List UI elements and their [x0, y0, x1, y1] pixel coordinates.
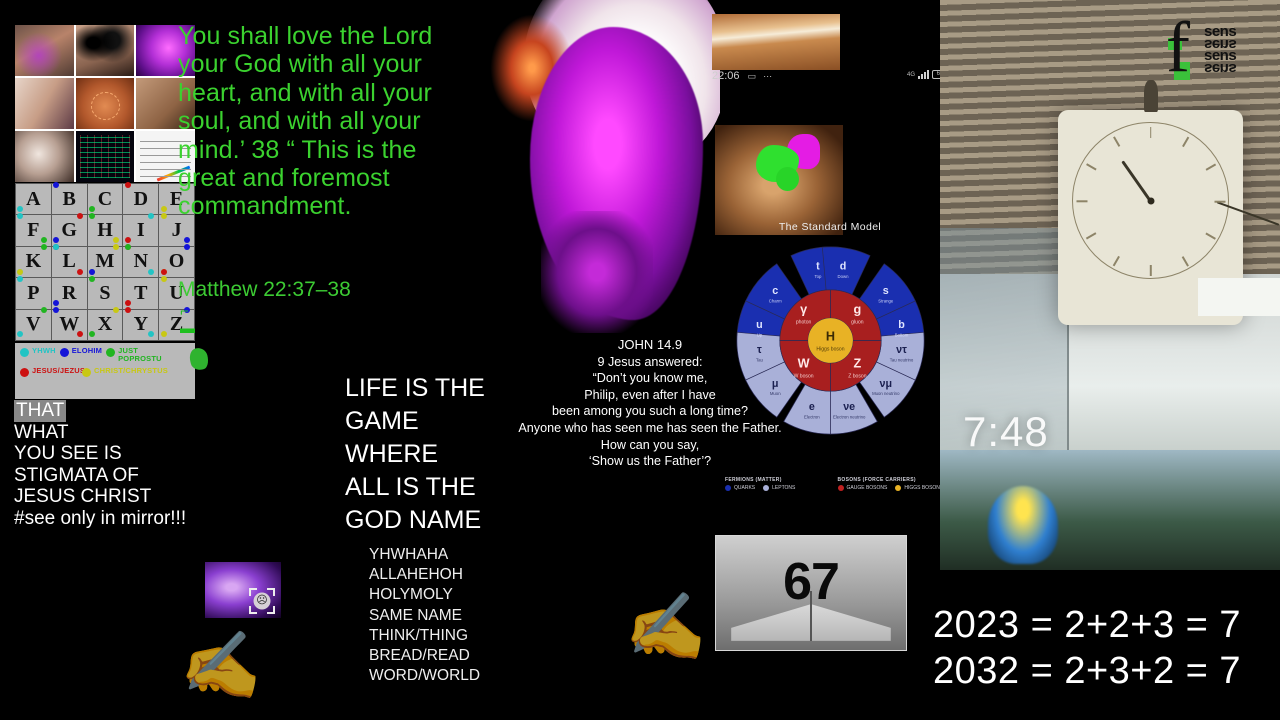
more-dots-icon: ⋯: [763, 71, 772, 81]
fermions-legend-title: FERMIONS (MATTER): [725, 477, 828, 483]
letter-label: O: [169, 250, 185, 273]
legend-label: YHWH: [32, 347, 56, 355]
sad-face-icon: ☹: [254, 593, 271, 610]
scripture-text: You shall love the Lord your God with al…: [178, 22, 478, 221]
marker-dot: [161, 213, 167, 219]
legend-label: CHRIST/CHRYSTUS: [94, 367, 140, 375]
particle-name: Down: [838, 274, 850, 279]
marker-dot: [113, 237, 119, 243]
marker-dot: [53, 244, 59, 250]
person-figure: [988, 486, 1058, 564]
marker-dot: [89, 276, 95, 282]
god-name-item: SAME NAME: [369, 606, 599, 626]
skin-photo-thumbnail: [712, 14, 840, 70]
photo-collage-grid: [15, 25, 195, 182]
clock-hour-hand: [1121, 160, 1152, 202]
letter-label: F: [27, 219, 39, 242]
clock-tick: [1214, 201, 1225, 203]
marker-dot: [53, 300, 59, 306]
face-box-corner-br: [267, 606, 275, 614]
clock-tick: [1086, 233, 1096, 240]
letter-label: B: [63, 188, 76, 211]
letter-cell-I: I: [123, 215, 158, 245]
sm-legend-chip: QUARKS: [725, 485, 755, 491]
particle-symbol: γ: [800, 303, 807, 317]
letter-cell-P: P: [16, 278, 51, 308]
letter-label: Y: [134, 313, 148, 336]
logo-sens-stack: senssenssenssens: [1204, 26, 1274, 74]
phone-status-time: 22:06 ▭ ⋯: [712, 70, 772, 82]
particle-name: W boson: [794, 373, 814, 379]
marker-dot: [53, 307, 59, 313]
stigmata-text-block: THATWHATYOU SEE ISSTIGMATA OFJESUS CHRIS…: [14, 400, 274, 529]
logo-sens-word: sens: [1204, 38, 1274, 50]
collage-photo-2: [76, 25, 135, 76]
network-type-label: 4G: [907, 72, 915, 78]
marker-dot: [161, 331, 167, 337]
marker-dot: [89, 206, 95, 212]
letter-label: S: [99, 282, 110, 305]
collage-photo-8: [76, 131, 135, 182]
letter-label: P: [27, 282, 39, 305]
marker-dot: [161, 206, 167, 212]
god-name-item: THINK/THING: [369, 626, 599, 646]
letter-cell-N: N: [123, 247, 158, 277]
god-name-item: WORD/WORLD: [369, 666, 599, 686]
marker-dot: [17, 276, 23, 282]
particle-symbol: Z: [854, 356, 862, 370]
clock-tick: [1113, 256, 1120, 266]
clock-tick: [1182, 137, 1189, 147]
legend-color-dot: [60, 348, 69, 357]
sm-legend-swatch: [763, 485, 769, 491]
letter-label: D: [134, 188, 148, 211]
sm-legend-label: QUARKS: [734, 485, 755, 491]
john-heading: JOHN 14.9: [505, 337, 795, 354]
life-line: ALL IS THE: [345, 471, 595, 504]
stigmata-line: #see only in mirror!!!: [14, 508, 274, 530]
marker-dot: [17, 269, 23, 275]
signal-bars-icon: [918, 70, 929, 79]
bosons-legend-chips: GAUGE BOSONSHIGGS BOSON: [838, 485, 941, 491]
letter-cell-A: A: [16, 184, 51, 214]
marker-dot: [17, 206, 23, 212]
fsens-logo: f senssenssenssens: [1160, 10, 1272, 90]
sketch-figure-center: ✍: [622, 584, 712, 669]
bosons-legend-group: BOSONS (FORCE CARRIERS) GAUGE BOSONSHIGG…: [838, 477, 941, 491]
particle-name: Z boson: [848, 373, 866, 379]
particle-name: Muon neutrino: [872, 391, 900, 396]
marker-dot: [148, 213, 154, 219]
letter-cell-R: R: [52, 278, 87, 308]
marker-dot: [161, 276, 167, 282]
marker-dot: [89, 331, 95, 337]
logo-sens-word: sens: [1204, 62, 1274, 74]
particle-name: photon: [796, 319, 812, 325]
letter-cell-W: W: [52, 310, 87, 340]
letter-cell-O: O: [159, 247, 194, 277]
stigmata-line: THAT: [14, 400, 274, 422]
particle-name: Electron neutrino: [833, 415, 866, 420]
letter-label: R: [62, 282, 76, 305]
book-number-overlay: 67: [716, 552, 906, 612]
letter-cell-D: D: [123, 184, 158, 214]
collage-photo-7: [15, 131, 74, 182]
clock-tick: [1205, 233, 1215, 240]
particle-symbol: s: [883, 285, 889, 297]
sm-legend-label: HIGGS BOSON: [904, 485, 940, 491]
letter-cell-F: F: [16, 215, 51, 245]
marker-dot: [125, 307, 131, 313]
sm-legend-chip: HIGGS BOSON: [895, 485, 940, 491]
marker-dot: [161, 269, 167, 275]
god-name-list: YHWHAHAALLAHEHOHHOLYMOLYSAME NAMETHINK/T…: [369, 545, 599, 686]
legend-item: CHRIST/CHRYSTUS: [82, 367, 140, 377]
purple-thumbnail: ☹: [205, 562, 281, 618]
clock-tick: [1205, 164, 1215, 171]
left-collage-panel: [15, 25, 195, 182]
marker-dot: [17, 331, 23, 337]
particle-symbol: e: [809, 401, 815, 413]
letter-label: M: [96, 250, 115, 273]
marker-dot: [17, 213, 23, 219]
green-cursor-glyph: ⌐ ▬: [180, 303, 210, 319]
numerology-line: 2032 = 2+3+2 = 7: [933, 648, 1273, 694]
fermions-legend-chips: QUARKSLEPTONS: [725, 485, 828, 491]
life-line: GOD NAME: [345, 504, 595, 537]
collage-photo-4: [15, 78, 74, 129]
stigmata-line: JESUS CHRIST: [14, 486, 274, 508]
marker-dot: [148, 331, 154, 337]
letter-label: G: [61, 219, 77, 242]
particle-name: Tau neutrino: [890, 357, 914, 362]
sm-legend-chip: LEPTONS: [763, 485, 795, 491]
letter-cell-M: M: [88, 247, 123, 277]
letter-cell-Y: Y: [123, 310, 158, 340]
station-clock: [1058, 110, 1243, 325]
letter-cell-L: L: [52, 247, 87, 277]
letter-cell-C: C: [88, 184, 123, 214]
life-line: GAME: [345, 405, 595, 438]
clock-tick: [1182, 256, 1189, 266]
marker-dot: [53, 237, 59, 243]
face-detection-box: ☹: [249, 588, 275, 614]
letter-cell-K: K: [16, 247, 51, 277]
letter-label: A: [26, 188, 40, 211]
particle-symbol: t: [816, 260, 820, 272]
particle-symbol: νe: [843, 401, 855, 413]
marker-dot: [113, 307, 119, 313]
alphabet-grid: ABCDEFGHIJKLMNOPRSTUVWXYZ: [15, 183, 195, 341]
legend-item: YHWH: [20, 347, 56, 357]
letter-cell-V: V: [16, 310, 51, 340]
marker-dot: [77, 269, 83, 275]
legend-item: ELOHIM: [60, 347, 102, 357]
alphabet-grid-legend: YHWHELOHIMJUST POPROSTUJESUS/JEZUSCHRIST…: [15, 343, 195, 399]
numerology-block: 2023 = 2+2+3 = 72032 = 2+3+2 = 7: [933, 602, 1273, 694]
letter-label: L: [63, 250, 76, 273]
john-line: 9 Jesus answered:: [505, 354, 795, 371]
letter-cell-X: X: [88, 310, 123, 340]
marker-dot: [125, 244, 131, 250]
marker-dot: [125, 300, 131, 306]
legend-label: ELOHIM: [72, 347, 102, 355]
phone-time-label: 22:06: [712, 70, 740, 82]
open-book-clip: 67: [715, 535, 907, 651]
legend-color-dot: [20, 348, 29, 357]
marker-dot: [41, 237, 47, 243]
god-name-item: HOLYMOLY: [369, 585, 599, 605]
face-lower-purple: [541, 211, 653, 333]
sm-legend-chip: GAUGE BOSONS: [838, 485, 888, 491]
particle-symbol: νμ: [880, 378, 893, 390]
collage-photo-5: [76, 78, 135, 129]
scripture-reference: Matthew 22:37–38: [178, 278, 351, 302]
clock-center-pin: [1147, 197, 1154, 204]
standard-model-title: The Standard Model: [715, 221, 945, 233]
letter-label: C: [98, 188, 112, 211]
clock-face: [1072, 122, 1229, 279]
letter-label: X: [98, 313, 112, 336]
letter-label: K: [26, 250, 42, 273]
letter-label: J: [172, 219, 182, 242]
legend-color-dot: [82, 368, 91, 377]
marker-dot: [77, 213, 83, 219]
god-name-item: YHWHAHA: [369, 545, 599, 565]
particle-name: Electron: [804, 415, 820, 420]
letter-label: T: [134, 282, 147, 305]
letter-cell-T: T: [123, 278, 158, 308]
particle-symbol: W: [798, 356, 810, 370]
life-is-the-game-block: LIFE IS THEGAMEWHEREALL IS THEGOD NAME: [345, 372, 595, 537]
time-overlay: 7:48: [963, 408, 1049, 456]
particle-name: Bottom: [895, 332, 909, 337]
particle-symbol: c: [772, 285, 778, 297]
particle-symbol: b: [898, 319, 905, 331]
letter-label: H: [97, 219, 113, 242]
letter-label: V: [26, 313, 40, 336]
legend-label: JESUS/JEZUS: [32, 367, 78, 375]
sm-legend-label: LEPTONS: [772, 485, 795, 491]
composite-canvas: ABCDEFGHIJKLMNOPRSTUVWXYZ YHWHELOHIMJUST…: [0, 0, 1280, 720]
marker-dot: [148, 269, 154, 275]
particle-symbol: d: [840, 260, 847, 272]
life-line: LIFE IS THE: [345, 372, 595, 405]
marker-dot: [125, 237, 131, 243]
stigmata-line: WHAT: [14, 422, 274, 444]
purple-face-video: [440, 0, 720, 340]
marker-dot: [125, 182, 131, 188]
clock-mount-stem: [1144, 80, 1158, 112]
chat-bubble-icon: ▭: [748, 71, 757, 81]
clock-tick: [1086, 164, 1096, 171]
clock-tick: [1113, 137, 1120, 147]
particle-symbol: u: [756, 319, 763, 331]
collage-photo-1: [15, 25, 74, 76]
fermions-legend-group: FERMIONS (MATTER) QUARKSLEPTONS: [725, 477, 828, 491]
legend-item: JUST POPROSTU: [106, 347, 164, 363]
stigmata-line: YOU SEE IS: [14, 443, 274, 465]
numerology-line: 2023 = 2+2+3 = 7: [933, 602, 1273, 648]
god-name-item: ALLAHEHOH: [369, 565, 599, 585]
clock-body-window: [1198, 278, 1280, 316]
sketch-figure-left: ✍: [177, 621, 269, 709]
marker-dot: [184, 244, 190, 250]
stigmata-line: STIGMATA OF: [14, 465, 274, 487]
particle-symbol: ντ: [896, 344, 907, 356]
clock-tick: [1150, 127, 1152, 138]
marker-dot: [184, 237, 190, 243]
station-floor: [940, 450, 1280, 570]
legend-item: JESUS/JEZUS: [20, 367, 78, 377]
phone-screenshot-clip: 22:06 ▭ ⋯ 4G 60: [700, 0, 960, 95]
logo-letter-f: f: [1166, 12, 1190, 82]
clock-tick: [1150, 265, 1152, 276]
legend-color-dot: [106, 348, 115, 357]
bosons-legend-title: BOSONS (FORCE CARRIERS): [838, 477, 941, 483]
god-name-item: BREAD/READ: [369, 646, 599, 666]
particle-symbol: H: [826, 330, 835, 344]
standard-model-legend: FERMIONS (MATTER) QUARKSLEPTONS BOSONS (…: [725, 477, 940, 491]
particle-name: Top: [815, 274, 823, 279]
particle-name: Higgs boson: [816, 346, 844, 352]
marker-dot: [53, 182, 59, 188]
particle-name: Strange: [878, 298, 894, 303]
legend-label: JUST POPROSTU: [118, 347, 164, 363]
legend-row: YHWHELOHIMJUST POPROSTUJESUS/JEZUSCHRIST…: [20, 347, 190, 377]
marker-dot: [41, 244, 47, 250]
particle-name: Charm: [769, 298, 782, 303]
marker-dot: [113, 244, 119, 250]
sm-legend-swatch: [895, 485, 901, 491]
letter-label: N: [134, 250, 148, 273]
letter-cell-S: S: [88, 278, 123, 308]
marker-dot: [77, 331, 83, 337]
letter-cell-H: H: [88, 215, 123, 245]
legend-color-dot: [20, 368, 29, 377]
marker-dot: [41, 307, 47, 313]
marker-dot: [89, 213, 95, 219]
clock-tick: [1076, 201, 1087, 203]
sm-legend-swatch: [838, 485, 844, 491]
sm-legend-label: GAUGE BOSONS: [847, 485, 888, 491]
letter-cell-B: B: [52, 184, 87, 214]
marker-dot: [89, 269, 95, 275]
life-line: WHERE: [345, 438, 595, 471]
letter-cell-G: G: [52, 215, 87, 245]
letter-label: I: [137, 219, 145, 242]
sm-legend-swatch: [725, 485, 731, 491]
particle-name: gluon: [851, 319, 864, 325]
particle-symbol: g: [854, 303, 862, 317]
